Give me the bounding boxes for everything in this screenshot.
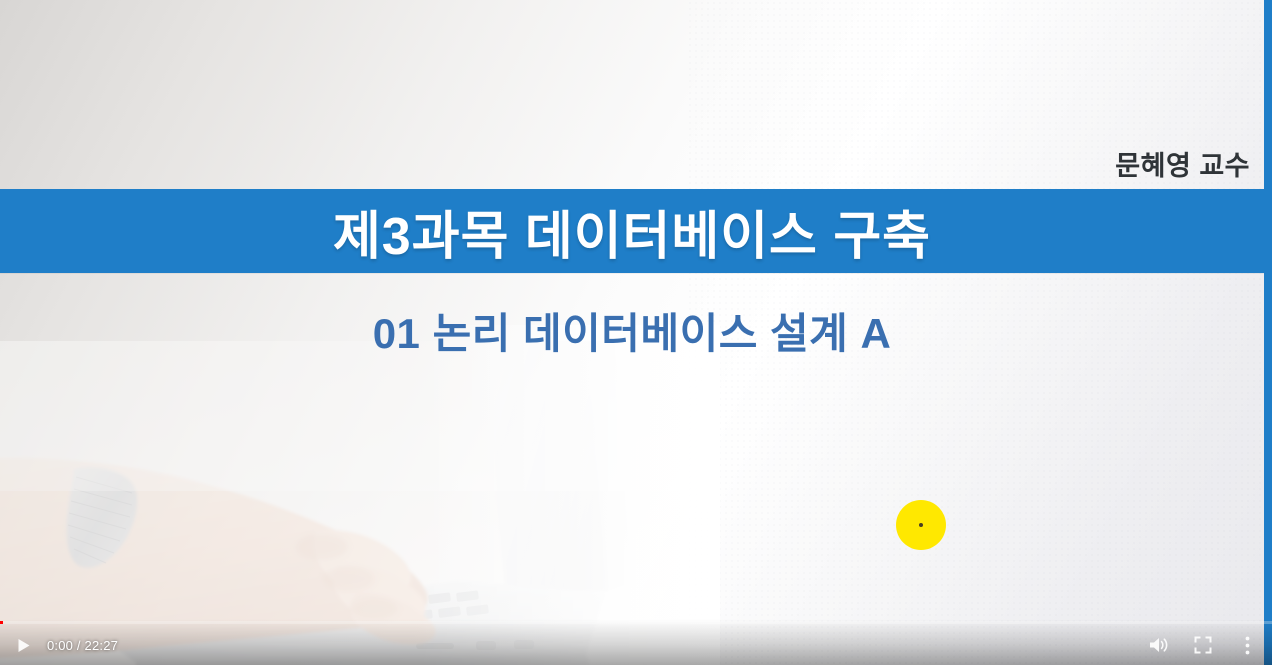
- fullscreen-icon[interactable]: [1188, 630, 1218, 660]
- hands-on-laptop-photo: [0, 341, 686, 665]
- control-right-group: [1144, 630, 1272, 660]
- time-display: 0:00 / 22:27: [47, 638, 118, 653]
- player-control-bar: 0:00 / 22:27: [0, 619, 1272, 665]
- control-left-group: 0:00 / 22:27: [0, 630, 118, 660]
- photo-fade-overlay: [0, 325, 720, 665]
- more-options-icon[interactable]: [1232, 630, 1262, 660]
- video-surface[interactable]: 문혜영 교수 제3과목 데이터베이스 구축 01 논리 데이터베이스 설계 A: [0, 0, 1272, 665]
- control-row: 0:00 / 22:27: [0, 625, 1272, 665]
- video-player[interactable]: 문혜영 교수 제3과목 데이터베이스 구축 01 논리 데이터베이스 설계 A: [0, 0, 1272, 665]
- slide-right-rail: [1264, 0, 1272, 665]
- lesson-subtitle: 01 논리 데이터베이스 설계 A: [0, 300, 1264, 361]
- course-title: 제3과목 데이터베이스 구축: [333, 194, 931, 269]
- course-title-band: 제3과목 데이터베이스 구축: [0, 189, 1264, 273]
- instructor-name: 문혜영 교수: [1115, 144, 1250, 183]
- play-button[interactable]: [8, 630, 38, 660]
- volume-icon[interactable]: [1144, 630, 1174, 660]
- cursor-click-highlight: [896, 500, 946, 550]
- cursor-dot: [919, 523, 923, 527]
